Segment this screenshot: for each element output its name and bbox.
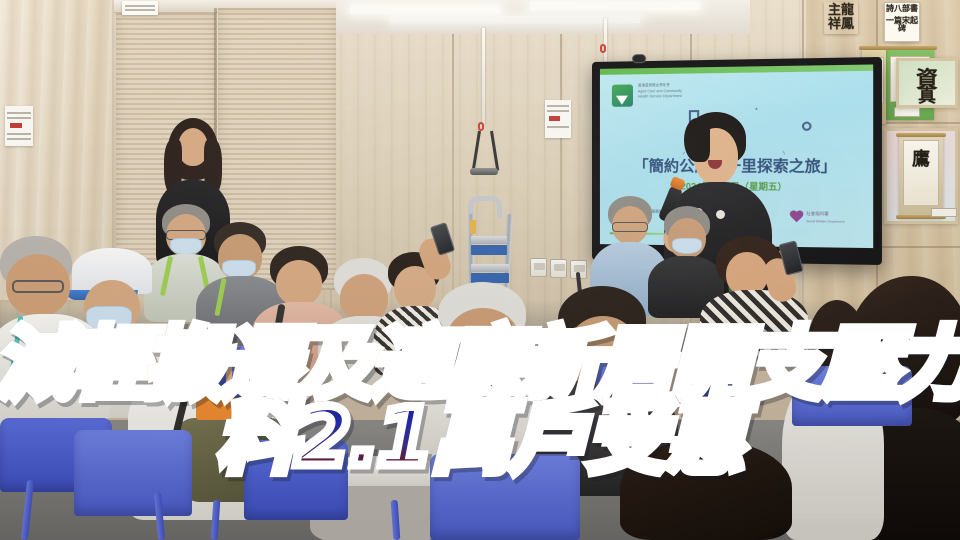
pulley-rope	[482, 28, 485, 124]
calligraphy-scroll: 詩八部書 一篇宋起碑	[884, 2, 920, 42]
blue-chair[interactable]	[164, 338, 226, 392]
blue-chair[interactable]	[792, 366, 912, 426]
purple-heart-icon	[789, 211, 804, 225]
eyeglasses	[612, 222, 648, 232]
eyeglasses	[12, 280, 64, 293]
sponsor-name-en: Social Welfare Department	[806, 220, 864, 225]
slide-org-name-en-1: Aged Care and Community	[638, 89, 682, 94]
blue-chair[interactable]	[684, 344, 748, 396]
wall-panel-seam	[560, 0, 562, 330]
ceiling-light	[350, 5, 500, 14]
blue-chair[interactable]	[74, 430, 192, 516]
blue-chair[interactable]	[232, 346, 292, 398]
audience-member-front-left	[0, 236, 100, 426]
surgical-mask	[672, 238, 702, 254]
display-camera-icon	[632, 54, 646, 63]
wall-socket[interactable]	[550, 259, 567, 278]
audience-member-bottom	[620, 440, 800, 540]
rope-clip	[478, 122, 484, 131]
pulley-handle	[470, 168, 498, 175]
slide-org-name-zh: 香港基督教女青年會	[638, 83, 670, 88]
ink-painting-scroll: 鷹	[899, 134, 943, 218]
wall-notice-right	[545, 100, 571, 138]
sponsor-name-zh: 社會福利署	[806, 210, 864, 216]
ceiling	[330, 0, 750, 34]
slide-top-bar	[600, 64, 873, 74]
blue-chair[interactable]	[452, 344, 518, 396]
blue-chair[interactable]	[430, 454, 580, 540]
slide-org-name-en-2: Health Service Department	[638, 94, 682, 99]
wall-notice-corner	[122, 1, 158, 15]
wall-socket[interactable]	[530, 258, 547, 277]
calligraphy-scroll: 主龍 祥鳳	[824, 2, 858, 34]
news-photo: 主龍 祥鳳 詩八部書 一篇宋起碑 資 真 鷹	[0, 0, 960, 540]
rope-clip	[600, 44, 606, 53]
circle-accent-graphic	[802, 122, 812, 131]
ceiling-light	[530, 2, 700, 10]
ywca-logo-icon	[612, 84, 633, 106]
blue-chair[interactable]	[596, 350, 660, 400]
ladder-warning-sticker	[470, 220, 476, 234]
blue-chair[interactable]	[244, 440, 348, 520]
framed-calligraphy: 資 真	[896, 58, 958, 108]
ceiling-light	[390, 16, 640, 23]
framed-ink-scroll: 鷹	[884, 128, 958, 224]
wall-notice-left	[5, 106, 33, 146]
